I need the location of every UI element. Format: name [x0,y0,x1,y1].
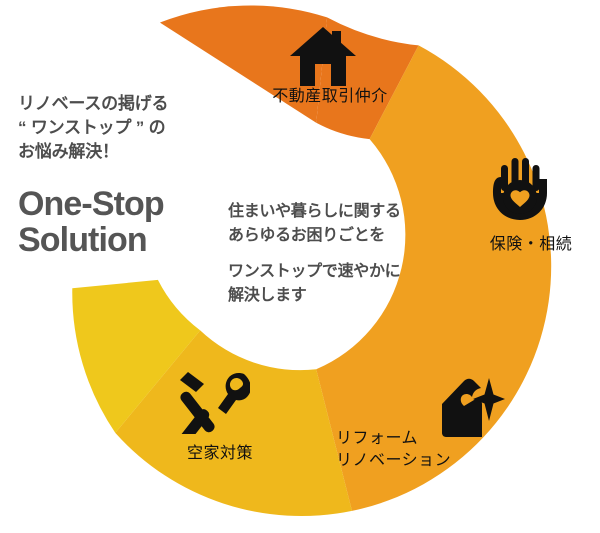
intro-text-block: リノベースの掲げる “ ワンストップ ” の お悩み解決！ One-Stop S… [18,92,238,258]
center-text-block: 住まいや暮らしに関する あらゆるお困りごとを ワンストップで速やかに 解決します [228,200,458,308]
house-icon [289,26,357,88]
segment-label-real-estate[interactable]: 不動産取引仲介 [245,86,415,108]
segment-label-akiya[interactable]: 空家対策 [160,443,280,465]
center-text-line-1: 住まいや暮らしに関する あらゆるお困りごとを [228,200,458,247]
segment-label-reform[interactable]: リフォーム リノベーション [336,428,506,471]
hammer-wrench-icon [174,372,250,434]
tagline-text: リノベースの掲げる “ ワンストップ ” の お悩み解決！ [18,92,238,164]
diagram-canvas: リノベースの掲げる “ ワンストップ ” の お悩み解決！ One-Stop S… [0,0,600,533]
hand-heart-icon [492,155,548,221]
segment-label-insurance[interactable]: 保険・相続 [466,234,596,256]
center-text-line-2: ワンストップで速やかに 解決します [228,260,458,307]
headline-text: One-Stop Solution [18,186,238,258]
